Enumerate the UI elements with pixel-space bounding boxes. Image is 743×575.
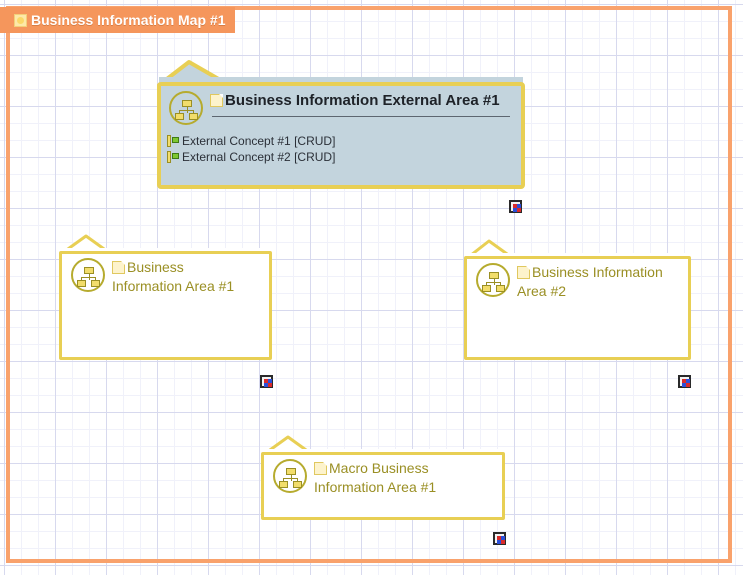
node-macro-area-1[interactable]: Macro Business Information Area #1 [261,434,505,520]
node-external-area-1[interactable]: Business Information External Area #1 Ex… [157,59,525,189]
business-area-hierarchy-icon [273,459,307,493]
color-handle-icon [682,379,690,387]
folder-package-icon [14,14,27,27]
area-square-icon [314,462,327,475]
list-item[interactable]: External Concept #1 [CRUD] [167,133,335,149]
area-square-icon [112,261,125,274]
node-title: Business Information External Area #1 [225,92,500,109]
node-title: Macro Business Information Area #1 [314,460,436,495]
business-area-hierarchy-icon [71,258,105,292]
node-area-2[interactable]: Business Information Area #2 [464,238,691,360]
diagram-title-tab[interactable]: Business Information Map #1 [0,7,235,33]
marker-area-1[interactable] [260,375,273,388]
node-title: Business Information Area #2 [517,264,663,299]
color-handle-icon [513,204,521,212]
list-item[interactable]: External Concept #2 [CRUD] [167,149,335,165]
diagram-title: Business Information Map #1 [31,12,225,28]
color-handle-icon [264,379,272,387]
node-title: Business Information Area #1 [112,259,234,294]
concept-label: External Concept #2 [CRUD] [182,150,335,164]
node-header: Business Information Area #1 [71,258,263,296]
node-header: Business Information Area #2 [476,263,682,301]
marker-macro-area-1[interactable] [493,532,506,545]
business-area-hierarchy-icon [169,91,203,125]
business-area-hierarchy-icon [476,263,510,297]
concept-label: External Concept #1 [CRUD] [182,134,335,148]
concept-icon [167,151,179,163]
node-header: Business Information External Area #1 [169,91,513,125]
marker-external-area-1[interactable] [509,200,522,213]
node-concept-list: External Concept #1 [CRUD] External Conc… [167,133,335,165]
concept-icon [167,135,179,147]
color-handle-icon [497,536,505,544]
diagram-canvas[interactable]: Business Information Map #1 Business Inf… [0,0,743,575]
node-area-1[interactable]: Business Information Area #1 [59,233,272,360]
area-square-icon [210,94,223,107]
node-header: Macro Business Information Area #1 [273,459,496,497]
node-title-underline [212,116,510,117]
area-square-icon [517,266,530,279]
marker-area-2[interactable] [678,375,691,388]
